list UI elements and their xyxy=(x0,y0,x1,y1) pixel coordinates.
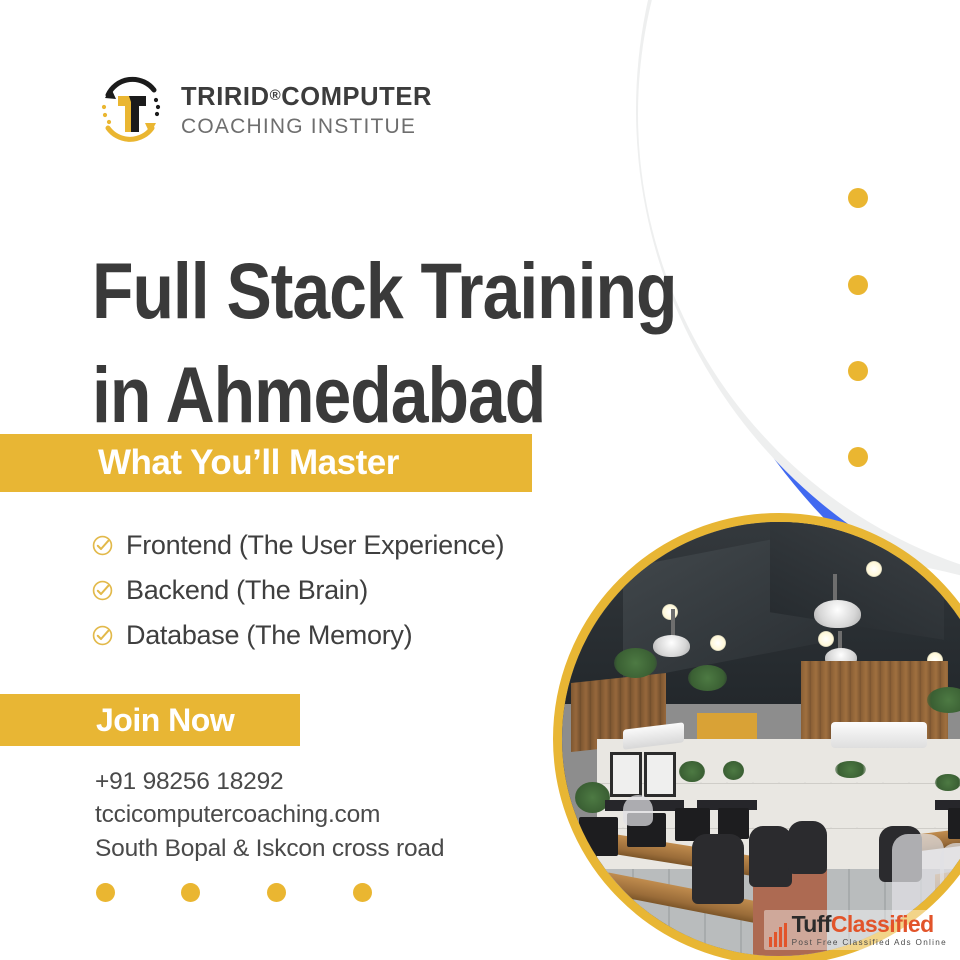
contact-address: South Bopal & Iskcon cross road xyxy=(95,833,444,864)
check-circle-icon xyxy=(92,580,113,601)
contact-phone[interactable]: +91 98256 18292 xyxy=(95,766,444,797)
office-photo xyxy=(553,513,960,960)
decor-dot-bottom-3 xyxy=(267,883,286,902)
join-now-banner[interactable]: Join Now xyxy=(0,694,300,746)
brand-name-line1: TRIRID®COMPUTER xyxy=(181,85,432,111)
headline-line-2: in Ahmedabad xyxy=(92,343,685,447)
list-item: Frontend (The User Experience) xyxy=(92,530,504,561)
list-item: Database (The Memory) xyxy=(92,620,504,651)
contact-website[interactable]: tccicomputercoaching.com xyxy=(95,799,444,830)
check-circle-icon xyxy=(92,535,113,556)
brand-logo: TRIRID®COMPUTER COACHING INSTITUE xyxy=(94,76,432,146)
decor-white-arc-core xyxy=(638,0,960,590)
tuffclassified-watermark: TuffClassified Post Free Classified Ads … xyxy=(764,910,952,950)
decor-dot-side-1 xyxy=(848,188,868,208)
decor-dot-bottom-1 xyxy=(96,883,115,902)
feature-list: Frontend (The User Experience) Backend (… xyxy=(92,530,504,651)
brand-name-line2: COACHING INSTITUE xyxy=(181,116,432,137)
decor-dot-bottom-4 xyxy=(353,883,372,902)
join-now-label: Join Now xyxy=(96,702,234,739)
decor-dot-side-2 xyxy=(848,275,868,295)
list-item: Backend (The Brain) xyxy=(92,575,504,606)
bar-chart-icon xyxy=(769,923,787,947)
list-item-label: Backend (The Brain) xyxy=(126,575,368,606)
master-banner-label: What You’ll Master xyxy=(98,443,399,483)
check-circle-icon xyxy=(92,625,113,646)
watermark-tagline: Post Free Classified Ads Online xyxy=(792,939,947,947)
tririd-circular-arrow-t-logo-icon xyxy=(94,76,168,146)
list-item-label: Database (The Memory) xyxy=(126,620,412,651)
decor-dot-bottom-2 xyxy=(181,883,200,902)
contact-block: +91 98256 18292 tccicomputercoaching.com… xyxy=(95,766,444,864)
watermark-brand: TuffClassified xyxy=(792,913,947,936)
decor-dot-side-3 xyxy=(848,361,868,381)
poster-canvas: TRIRID®COMPUTER COACHING INSTITUE Full S… xyxy=(0,0,960,960)
list-item-label: Frontend (The User Experience) xyxy=(126,530,504,561)
office-photo-image xyxy=(562,522,960,956)
master-banner: What You’ll Master xyxy=(0,434,532,492)
decor-dot-side-4 xyxy=(848,447,868,467)
headline-line-1: Full Stack Training xyxy=(92,239,685,343)
page-title: Full Stack Training in Ahmedabad xyxy=(92,239,685,448)
